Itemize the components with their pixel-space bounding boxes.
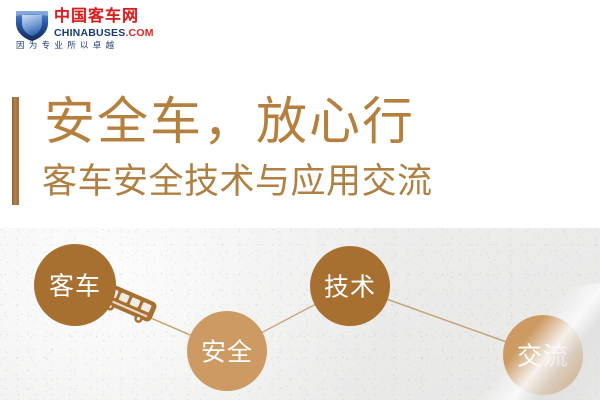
header-area: 中国客车网 CHINABUSES.COM 因为专业所以卓越 安全车，放心行 客车… — [0, 0, 600, 228]
flow-connectors — [113, 299, 506, 341]
connector-anquan-jishu — [262, 305, 314, 333]
flow-node-label: 交流 — [517, 342, 569, 371]
shield-icon — [14, 8, 50, 42]
page-subtitle: 客车安全技术与应用交流 — [42, 160, 433, 204]
flow-node-label: 技术 — [324, 273, 376, 302]
logo-brand-tld: .COM — [125, 27, 153, 39]
flow-node-label: 客车 — [49, 272, 101, 301]
logo-brand-en: CHINABUSES.COM — [54, 27, 154, 39]
flow-nodes: 客车 安全 技术 交流 — [34, 244, 583, 395]
logo-tagline: 因为专业所以卓越 — [16, 41, 118, 52]
site-logo[interactable]: 中国客车网 CHINABUSES.COM 因为专业所以卓越 — [14, 6, 194, 56]
page-title: 安全车，放心行 — [44, 92, 415, 154]
flow-node-jishu[interactable]: 技术 — [310, 246, 390, 326]
flow-node-keche[interactable]: 客车 — [34, 244, 116, 326]
flow-node-anquan[interactable]: 安全 — [187, 311, 267, 391]
logo-brand-cn: 中国客车网 — [54, 7, 139, 25]
flow-node-label: 安全 — [201, 338, 253, 367]
flow-diagram-area: 客车 安全 技术 交流 — [0, 228, 600, 400]
connector-jishu-jiaoliu — [388, 299, 506, 341]
logo-brand-en-text: CHINABUSES — [54, 27, 125, 39]
poster-root: 中国客车网 CHINABUSES.COM 因为专业所以卓越 安全车，放心行 客车… — [0, 0, 600, 400]
title-accent-bar — [12, 97, 19, 205]
flow-node-jiaoliu[interactable]: 交流 — [503, 315, 583, 395]
flow-diagram: 客车 安全 技术 交流 — [0, 228, 600, 400]
